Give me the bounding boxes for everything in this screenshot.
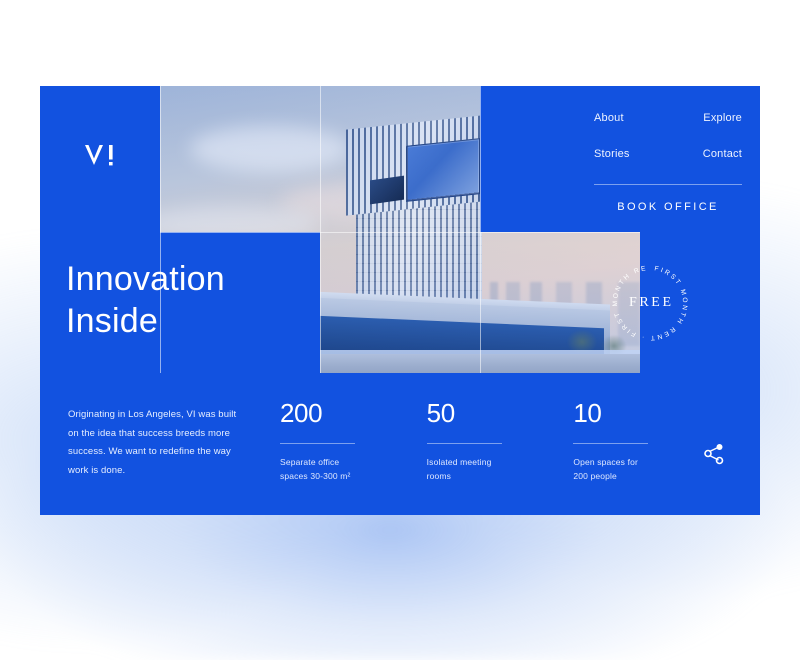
stat-label-line-1: Isolated meeting [427,455,574,469]
vi-monogram-icon [83,143,129,169]
stat-label: Isolated meeting rooms [427,455,574,483]
hero-paragraph: Originating in Los Angeles, VI was built… [68,406,244,480]
stat-label-line-1: Separate office [280,455,427,469]
building-photo [160,86,320,232]
stat-item: 50 Isolated meeting rooms [427,400,574,483]
headline-line-2: Inside [66,300,225,342]
stat-label-line-2: rooms [427,469,574,483]
stat-label-line-2: spaces 30-300 m² [280,469,427,483]
stat-label: Open spaces for 200 people [573,455,720,483]
hero-panel: About Explore Stories Contact BOOK OFFIC… [40,86,760,515]
nav-link-stories[interactable]: Stories [594,148,630,160]
stat-number: 10 [573,400,720,426]
logo[interactable] [83,143,129,169]
stat-item: 10 Open spaces for 200 people [573,400,720,483]
nav-row-2: Stories Contact [594,148,742,160]
stat-divider [573,443,648,444]
stat-divider [280,443,355,444]
book-office-button[interactable]: BOOK OFFICE [594,201,742,213]
stat-divider [427,443,502,444]
stat-label-line-1: Open spaces for [573,455,720,469]
share-icon [701,441,727,467]
headline-line-1: Innovation [66,258,225,300]
nav-divider [594,184,742,185]
nav-link-explore[interactable]: Explore [703,112,742,124]
page-title: Innovation Inside [66,258,225,342]
stat-label-line-2: 200 people [573,469,720,483]
main-navigation: About Explore Stories Contact BOOK OFFIC… [594,112,742,213]
nav-link-about[interactable]: About [594,112,624,124]
nav-link-contact[interactable]: Contact [703,148,742,160]
stat-number: 200 [280,400,427,426]
badge-center-text: FREE [605,258,695,348]
stats-row: 200 Separate office spaces 30-300 m² 50 … [280,400,720,483]
promo-badge: FIRST MONTH RENT · FIRST MONTH RENT · FR… [605,258,695,348]
share-button[interactable] [701,441,727,467]
image-cell-r2c2 [320,232,480,373]
image-cell-r1c2 [320,86,480,232]
image-cell-r1c1 [160,86,320,232]
nav-row-1: About Explore [594,112,742,124]
stat-item: 200 Separate office spaces 30-300 m² [280,400,427,483]
stat-number: 50 [427,400,574,426]
hero-image-grid [160,86,640,373]
stat-label: Separate office spaces 30-300 m² [280,455,427,483]
